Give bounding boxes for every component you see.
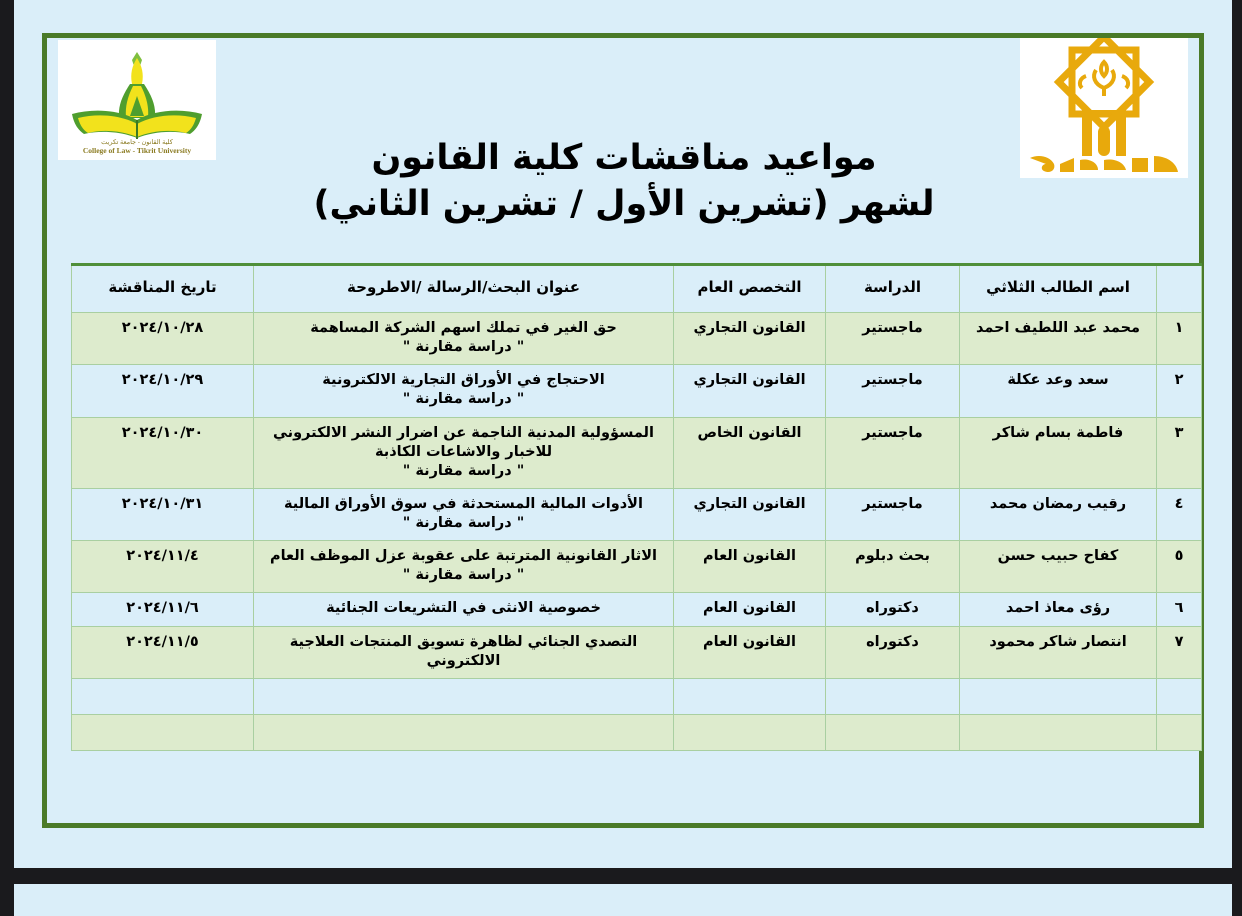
cell-row-number: ١ (1157, 313, 1202, 365)
table-header-row: اسم الطالب الثلاثي الدراسة التخصص العام … (72, 265, 1202, 313)
college-of-law-logo-caption: كلية القانون - جامعة تكريت College of La… (58, 140, 216, 155)
cell-specialization (674, 714, 826, 750)
page-title-line-2: لشهر (تشرين الأول / تشرين الثاني) (234, 182, 1014, 228)
cell-row-number: ٣ (1157, 417, 1202, 488)
cell-research-title: خصوصية الانثى في التشريعات الجنائية (254, 593, 674, 626)
table-header: اسم الطالب الثلاثي الدراسة التخصص العام … (72, 265, 1202, 313)
research-title-subtitle: " دراسة مقارنة " (260, 338, 667, 357)
cell-student-name (960, 678, 1157, 714)
college-of-law-logo-caption-en: College of Law - Tikrit University (58, 147, 216, 155)
cell-row-number: ٢ (1157, 365, 1202, 417)
cell-student-name: فاطمة بسام شاكر (960, 417, 1157, 488)
column-header-specialization: التخصص العام (674, 265, 826, 313)
cell-row-number (1157, 678, 1202, 714)
cell-student-name: رقيب رمضان محمد (960, 488, 1157, 540)
cell-student-name: كفاح حبيب حسن (960, 541, 1157, 593)
cell-row-number (1157, 714, 1202, 750)
cell-specialization: القانون الخاص (674, 417, 826, 488)
table-row: ٦رؤى معاذ احمددكتوراهالقانون العامخصوصية… (72, 593, 1202, 626)
column-header-study-level: الدراسة (826, 265, 960, 313)
cell-research-title (254, 714, 674, 750)
cell-row-number: ٤ (1157, 488, 1202, 540)
cell-row-number: ٥ (1157, 541, 1202, 593)
table-row: ١محمد عبد اللطيف احمدماجستيرالقانون التج… (72, 313, 1202, 365)
cell-student-name (960, 714, 1157, 750)
research-title-subtitle: " دراسة مقارنة " (260, 462, 667, 481)
column-header-number (1157, 265, 1202, 313)
cell-row-number: ٦ (1157, 593, 1202, 626)
schedule-table-container: اسم الطالب الثلاثي الدراسة التخصص العام … (72, 263, 1202, 751)
cell-research-title: التصدي الجنائي لظاهرة تسويق المنتجات الع… (254, 626, 674, 678)
cell-study-level: ماجستير (826, 417, 960, 488)
cell-student-name: محمد عبد اللطيف احمد (960, 313, 1157, 365)
cell-defense-date (72, 678, 254, 714)
table-row (72, 678, 1202, 714)
column-header-research-title: عنوان البحث/الرسالة /الاطروحة (254, 265, 674, 313)
page-title: مواعيد مناقشات كلية القانون لشهر (تشرين … (234, 136, 1014, 227)
research-title-subtitle: " دراسة مقارنة " (260, 566, 667, 585)
cell-study-level (826, 714, 960, 750)
table-body: ١محمد عبد اللطيف احمدماجستيرالقانون التج… (72, 313, 1202, 751)
cell-student-name: رؤى معاذ احمد (960, 593, 1157, 626)
page-title-line-1: مواعيد مناقشات كلية القانون (234, 136, 1014, 182)
cell-specialization: القانون العام (674, 626, 826, 678)
defense-schedule-table: اسم الطالب الثلاثي الدراسة التخصص العام … (71, 263, 1202, 751)
cell-research-title: الاثار القانونية المترتبة على عقوبة عزل … (254, 541, 674, 593)
column-header-defense-date: تاريخ المناقشة (72, 265, 254, 313)
table-row (72, 714, 1202, 750)
cell-study-level: ماجستير (826, 313, 960, 365)
cell-specialization: القانون التجاري (674, 365, 826, 417)
cell-specialization: القانون التجاري (674, 488, 826, 540)
table-row: ٤رقيب رمضان محمدماجستيرالقانون التجاريال… (72, 488, 1202, 540)
cell-specialization: القانون العام (674, 541, 826, 593)
cell-defense-date: ٢٠٢٤/١١/٥ (72, 626, 254, 678)
cell-research-title: الاحتجاج في الأوراق التجارية الالكترونية… (254, 365, 674, 417)
cell-defense-date: ٢٠٢٤/١٠/٢٨ (72, 313, 254, 365)
research-title-subtitle: " دراسة مقارنة " (260, 514, 667, 533)
cell-study-level: ماجستير (826, 488, 960, 540)
cell-specialization (674, 678, 826, 714)
cell-research-title: الأدوات المالية المستحدثة في سوق الأوراق… (254, 488, 674, 540)
next-slide-preview (14, 884, 1232, 916)
cell-study-level: ماجستير (826, 365, 960, 417)
cell-research-title: حق الغير في تملك اسهم الشركة المساهمة" د… (254, 313, 674, 365)
college-of-law-logo: كلية القانون - جامعة تكريت College of La… (58, 40, 216, 160)
cell-defense-date: ٢٠٢٤/١٠/٣٠ (72, 417, 254, 488)
cell-defense-date: ٢٠٢٤/١١/٤ (72, 541, 254, 593)
table-row: ٢سعد وعد عكلةماجستيرالقانون التجاريالاحت… (72, 365, 1202, 417)
cell-study-level (826, 678, 960, 714)
cell-row-number: ٧ (1157, 626, 1202, 678)
table-row: ٥كفاح حبيب حسنبحث دبلومالقانون العامالاث… (72, 541, 1202, 593)
cell-study-level: بحث دبلوم (826, 541, 960, 593)
screenshot-canvas: كلية القانون - جامعة تكريت College of La… (0, 0, 1242, 916)
cell-research-title (254, 678, 674, 714)
cell-defense-date: ٢٠٢٤/١٠/٣١ (72, 488, 254, 540)
cell-student-name: سعد وعد عكلة (960, 365, 1157, 417)
table-row: ٧انتصار شاكر محموددكتوراهالقانون العامال… (72, 626, 1202, 678)
cell-defense-date: ٢٠٢٤/١١/٦ (72, 593, 254, 626)
cell-study-level: دكتوراه (826, 626, 960, 678)
column-header-student-name: اسم الطالب الثلاثي (960, 265, 1157, 313)
presentation-slide: كلية القانون - جامعة تكريت College of La… (14, 0, 1232, 868)
cell-defense-date: ٢٠٢٤/١٠/٢٩ (72, 365, 254, 417)
cell-defense-date (72, 714, 254, 750)
tikrit-university-logo (1020, 38, 1188, 178)
cell-specialization: القانون العام (674, 593, 826, 626)
cell-student-name: انتصار شاكر محمود (960, 626, 1157, 678)
cell-research-title: المسؤولية المدنية الناجمة عن اضرار النشر… (254, 417, 674, 488)
cell-study-level: دكتوراه (826, 593, 960, 626)
research-title-subtitle: " دراسة مقارنة " (260, 390, 667, 409)
table-row: ٣فاطمة بسام شاكرماجستيرالقانون الخاصالمس… (72, 417, 1202, 488)
cell-specialization: القانون التجاري (674, 313, 826, 365)
